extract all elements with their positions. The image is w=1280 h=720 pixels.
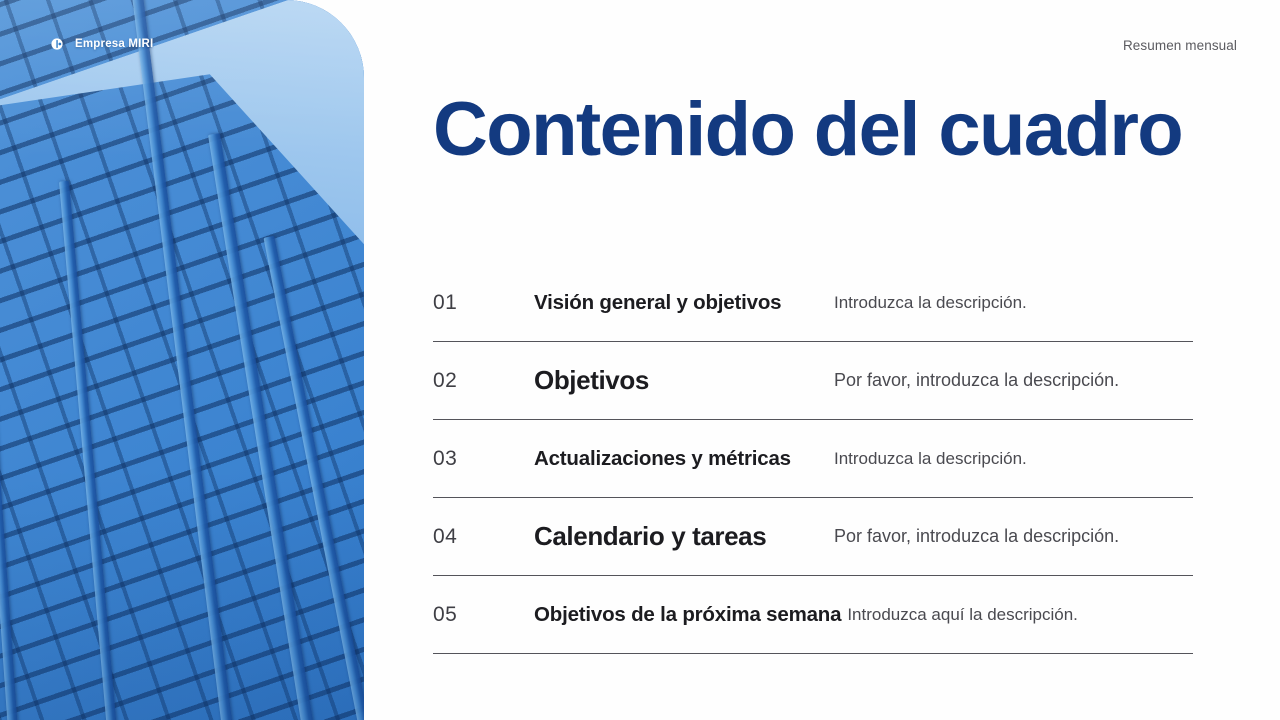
agenda-row[interactable]: 04Calendario y tareasPor favor, introduz… [433, 498, 1193, 576]
agenda-row[interactable]: 02ObjetivosPor favor, introduzca la desc… [433, 342, 1193, 420]
agenda-row-description: Introduzca la descripción. [834, 293, 1027, 313]
agenda-row-title: Calendario y tareas [534, 521, 772, 552]
agenda-row-title: Visión general y objetivos [534, 291, 787, 315]
agenda-row[interactable]: 05Objetivos de la próxima semanaIntroduz… [433, 576, 1193, 654]
agenda-row-description: Introduzca aquí la descripción. [847, 605, 1078, 625]
slide-eyebrow: Resumen mensual [1123, 38, 1237, 53]
agenda-row[interactable]: 01Visión general y objetivosIntroduzca l… [433, 264, 1193, 342]
agenda-row-number: 02 [433, 369, 534, 393]
brand-name: Empresa MIRI [75, 38, 153, 50]
agenda-row-title: Objetivos [534, 365, 655, 396]
agenda-row-title: Objetivos de la próxima semana [534, 603, 847, 627]
agenda-row-description: Por favor, introduzca la descripción. [834, 526, 1119, 547]
slide-root: Empresa MIRI Resumen mensual Contenido d… [0, 0, 1280, 720]
brand-logo[interactable]: Empresa MIRI [44, 33, 153, 55]
circle-c-monogram-icon [44, 33, 66, 55]
agenda-row-number: 05 [433, 603, 534, 627]
agenda-row-title: Actualizaciones y métricas [534, 447, 797, 471]
agenda-row-number: 04 [433, 525, 534, 549]
hero-image-panel: Empresa MIRI [0, 0, 364, 720]
page-title: Contenido del cuadro [433, 92, 1213, 168]
agenda-row[interactable]: 03Actualizaciones y métricasIntroduzca l… [433, 420, 1193, 498]
agenda-row-number: 03 [433, 447, 534, 471]
agenda-row-number: 01 [433, 291, 534, 315]
agenda-row-description: Por favor, introduzca la descripción. [834, 370, 1119, 391]
agenda-row-description: Introduzca la descripción. [834, 449, 1027, 469]
agenda-list: 01Visión general y objetivosIntroduzca l… [433, 264, 1193, 654]
